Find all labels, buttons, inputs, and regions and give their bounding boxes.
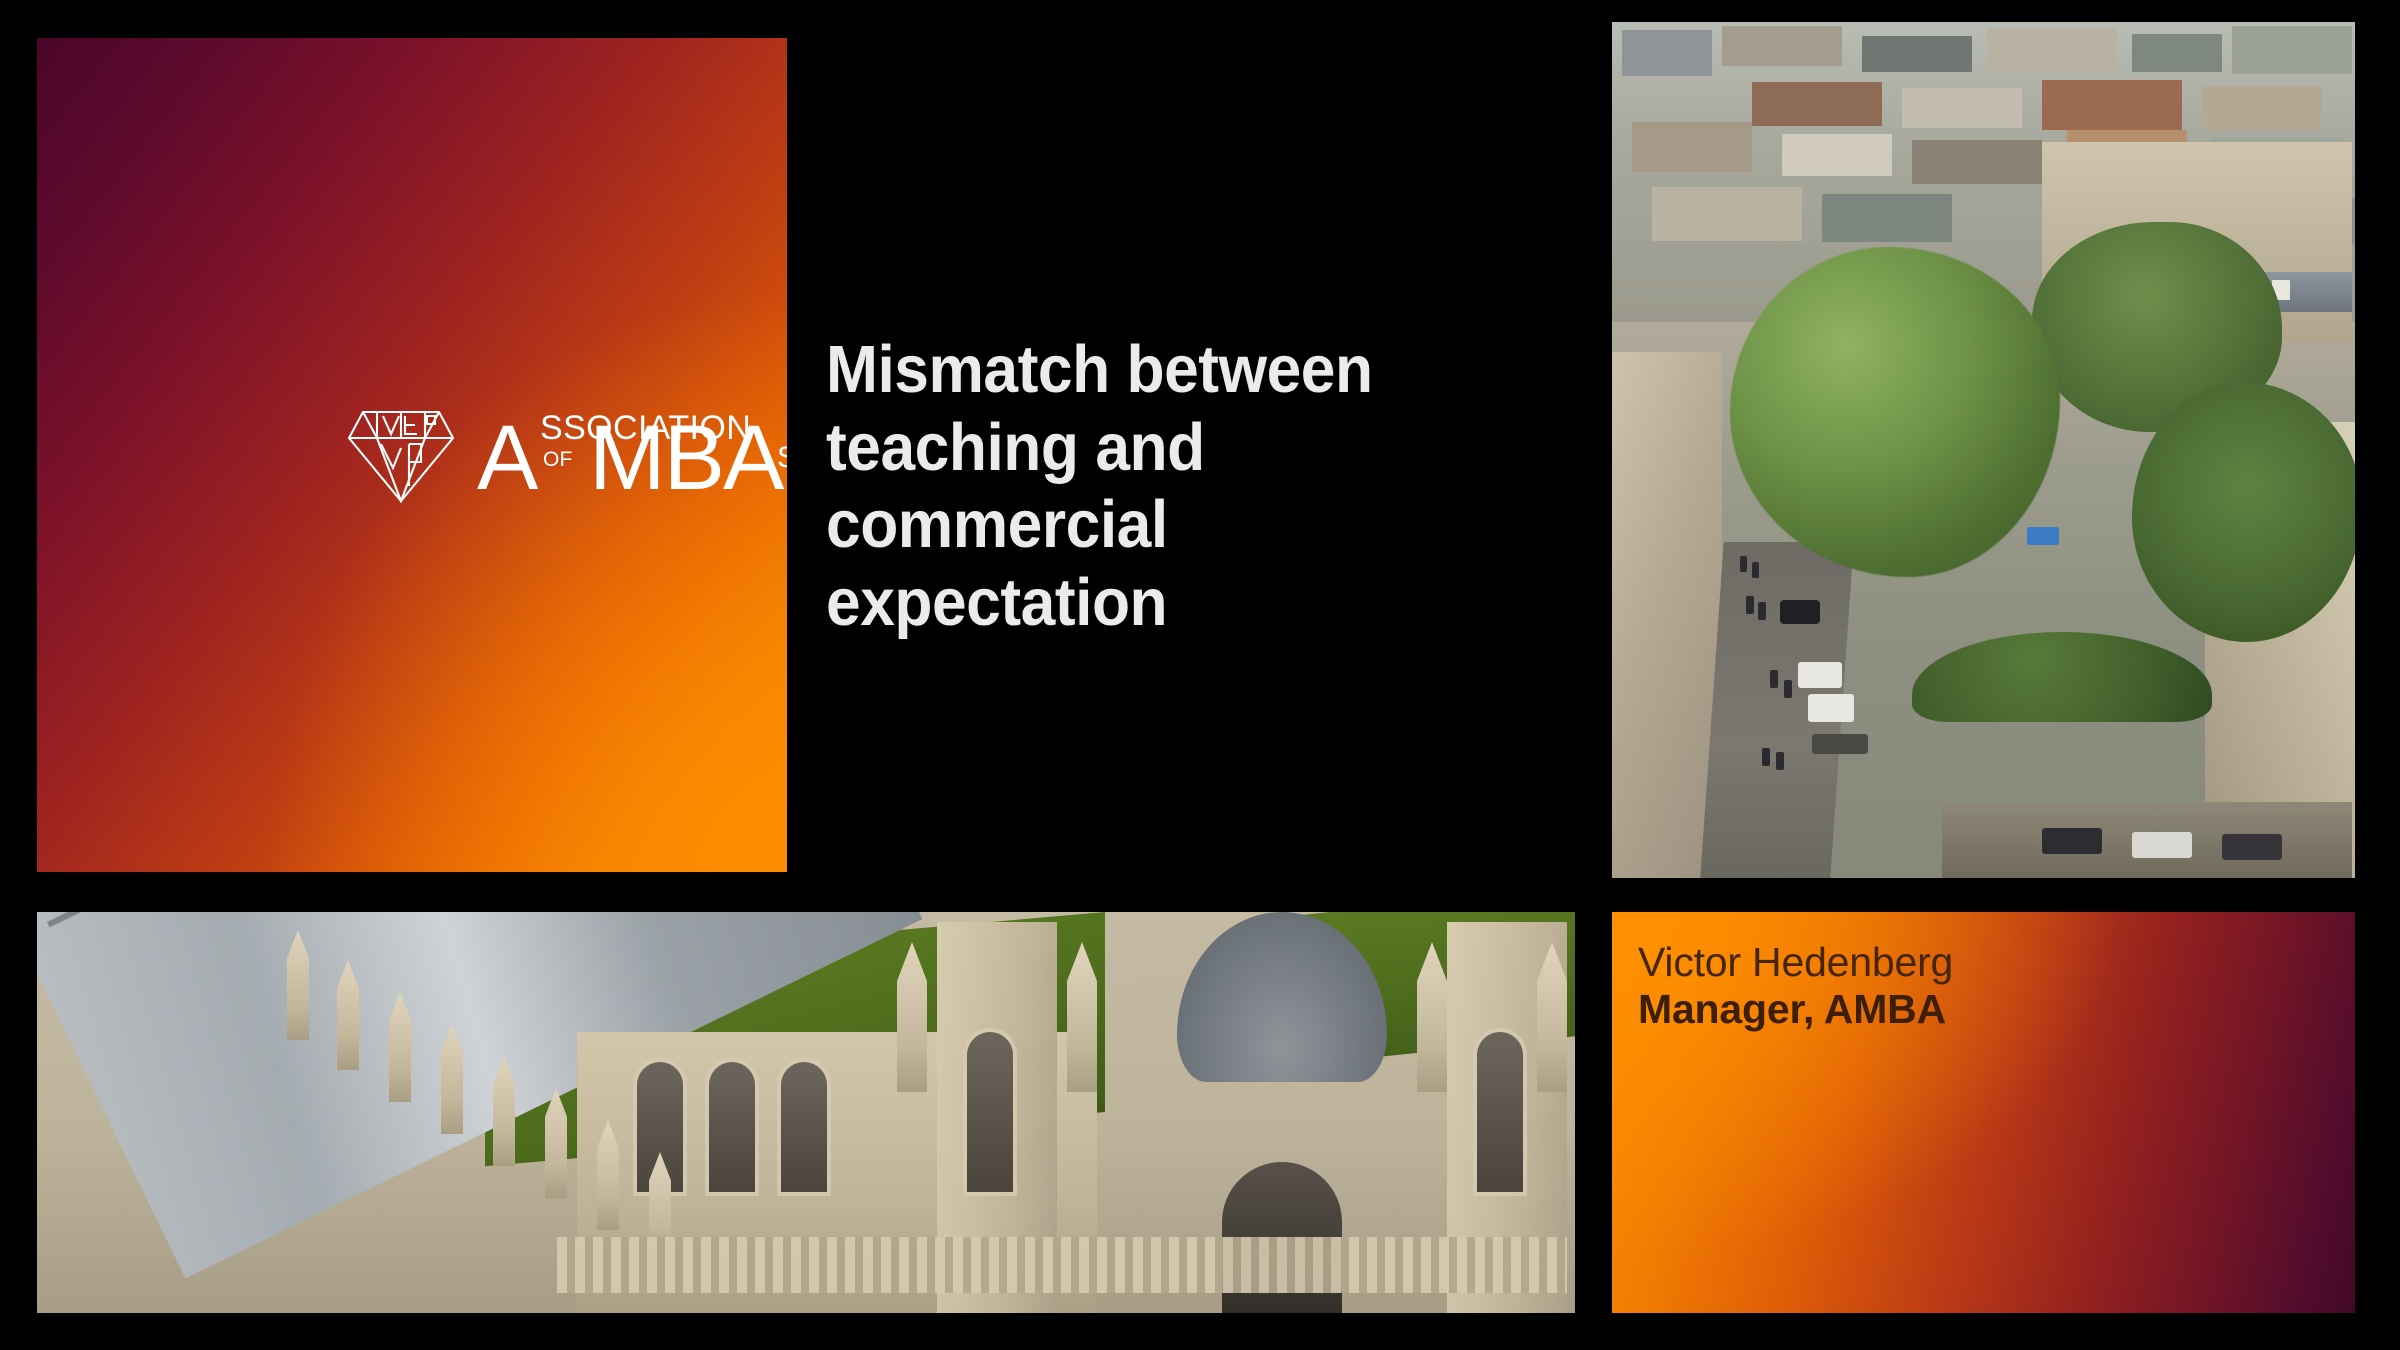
title-line-2: teaching and [826, 409, 1514, 487]
parked-car [1780, 600, 1820, 624]
all-souls-college-photo [37, 912, 1575, 1313]
amba-logo-panel: A SSOCIATION OF MBA S [37, 38, 787, 872]
roof-block [1912, 140, 2042, 184]
roof-block [1862, 36, 1972, 72]
roof-block [1622, 30, 1712, 76]
title-line-3: commercial expectation [826, 486, 1514, 641]
stone-balustrade [557, 1237, 1567, 1293]
parked-car [2222, 834, 2282, 860]
parked-van [1798, 662, 1842, 688]
gothic-window [781, 1062, 827, 1192]
pedestrian [1776, 752, 1784, 770]
speaker-role: Manager, AMBA [1638, 986, 1953, 1033]
roof-block [2042, 80, 2182, 130]
tower-window [967, 1032, 1013, 1192]
amba-logo-lockup: A SSOCIATION OF MBA S [347, 407, 477, 503]
roof-block [1652, 187, 1802, 241]
pedestrian [1762, 748, 1770, 766]
blue-tarpaulin [2027, 527, 2059, 545]
oxford-aerial-photo [1612, 22, 2355, 878]
roof-block [1782, 134, 1892, 176]
amba-diamond-logo-icon [347, 408, 455, 503]
parked-van [1808, 694, 1854, 722]
wordmark-of: OF [543, 449, 573, 470]
speaker-identity: Victor Hedenberg Manager, AMBA [1638, 939, 1953, 1032]
pedestrian [1746, 596, 1754, 614]
speaker-name-plate: Victor Hedenberg Manager, AMBA [1612, 912, 2355, 1313]
broadcast-grid: A SSOCIATION OF MBA S Mismatch between t… [0, 0, 2400, 1350]
parked-motorbikes [1812, 734, 1868, 754]
wordmark-mba: MBA [589, 421, 782, 496]
wordmark-s: S [777, 443, 787, 473]
tower-window [1477, 1032, 1523, 1192]
speaker-name: Victor Hedenberg [1638, 939, 1953, 986]
roof-block [1987, 28, 2117, 72]
roof-block [1902, 88, 2022, 128]
wordmark-letter-a: A [477, 421, 537, 496]
parked-car [2042, 828, 2102, 854]
pedestrian [1784, 680, 1792, 698]
roof-block [1632, 122, 1752, 172]
pedestrian [1770, 670, 1778, 688]
roof-block [2232, 26, 2352, 74]
pedestrian [1752, 562, 1759, 578]
session-title: Mismatch between teaching and commercial… [826, 331, 1514, 642]
roof-block [1722, 26, 1842, 66]
pedestrian [1758, 602, 1766, 620]
roof-block [1822, 194, 1952, 242]
gothic-window [709, 1062, 755, 1192]
title-line-1: Mismatch between [826, 331, 1514, 409]
roof-block [2132, 34, 2222, 72]
roof-block [2202, 86, 2322, 130]
tree-canopy [2132, 382, 2355, 642]
pedestrian [1740, 556, 1747, 572]
parked-car [2132, 832, 2192, 858]
roof-block [1752, 82, 1882, 126]
